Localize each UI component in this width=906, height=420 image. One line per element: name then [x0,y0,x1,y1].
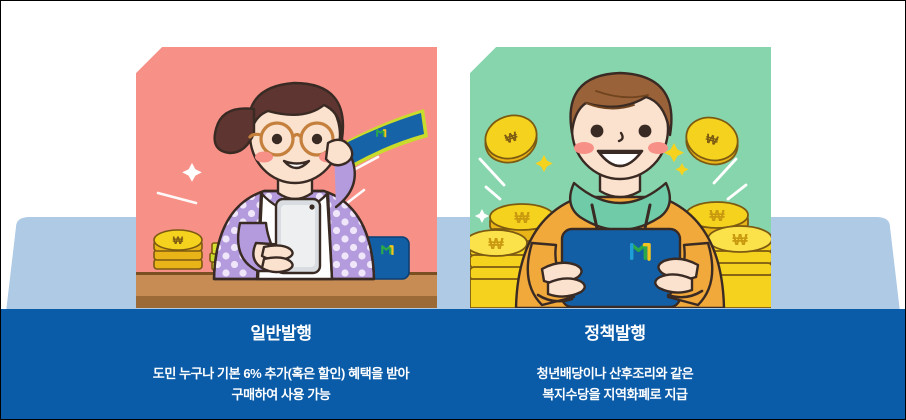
panel-description-line-1: 도민 누구나 기본 6% 추가(혹은 할인) 혜택을 받아 [111,363,451,384]
panel-description-line-1: 청년배당이나 산후조리와 같은 [455,363,775,384]
coin-won-symbol: ₩ [488,236,504,253]
coin-won-symbol: ₩ [173,235,184,247]
coin-won-symbol: ₩ [514,210,530,227]
panel-description-general-issue: 도민 누구나 기본 6% 추가(혹은 할인) 혜택을 받아 구매하여 사용 가능 [111,363,451,406]
coin-stack: ₩ [154,230,202,269]
desk-edge [136,296,437,308]
coin-won-symbol: ₩ [732,232,748,249]
panel-illustration-general-issue: ₩ [136,47,437,308]
panel-description-line-2: 구매하여 사용 가능 [111,384,451,405]
panel-description-line-2: 복지수당을 지역화폐로 지급 [455,384,775,405]
panel-description-policy-issue: 청년배당이나 산후조리와 같은 복지수당을 지역화폐로 지급 [455,363,775,406]
panel-illustration-policy-issue: ₩ ₩ [470,47,771,308]
infographic-canvas: ₩ [0,0,906,420]
coin-won-symbol: ₩ [709,208,725,225]
man-holding-card-illustration: ₩ ₩ [470,47,771,308]
panel-title-general-issue: 일반발행 [131,325,431,342]
woman-with-smartphone-illustration: ₩ [136,47,437,308]
panel-title-policy-issue: 정책발행 [465,325,765,342]
